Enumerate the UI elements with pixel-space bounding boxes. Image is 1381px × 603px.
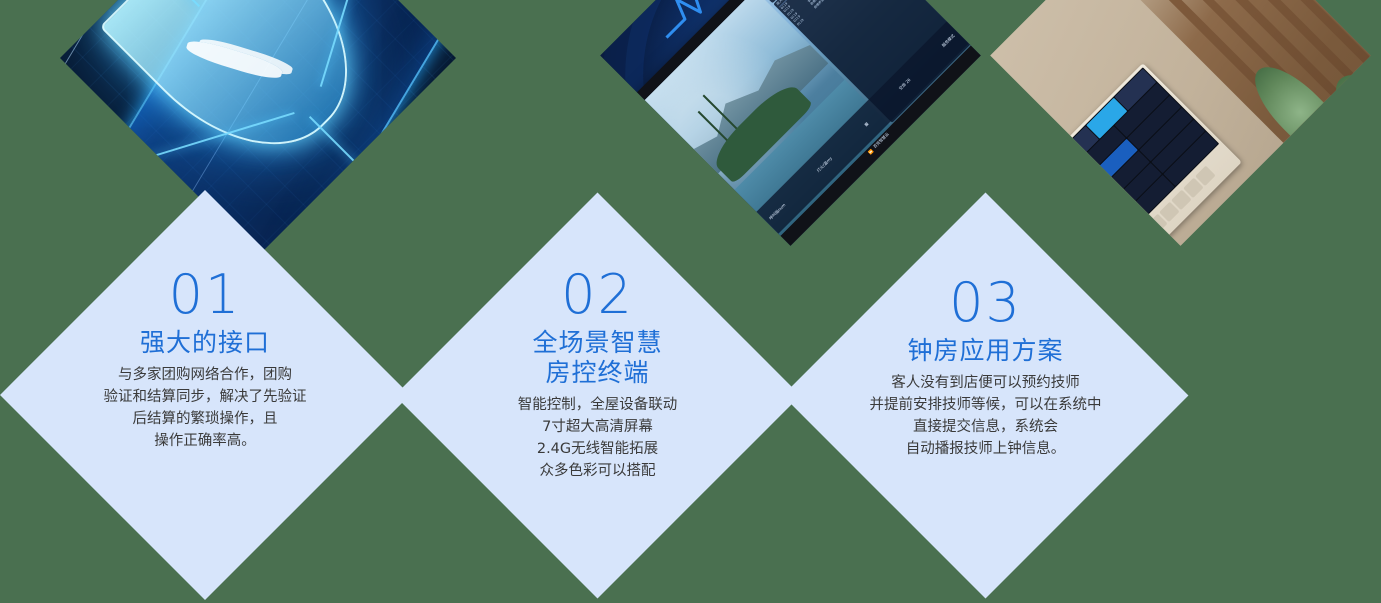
card-image-03 [990, 0, 1370, 246]
table-cell: 会德养生SPA [812, 0, 857, 9]
dock-item: 空房 26 [897, 77, 911, 91]
card-description: 客人没有到店便可以预约技师 并提前安排技师等候，可以在系统中 直接提交信息，系统… [870, 372, 1102, 460]
card-description: 与多家团购网络合作，团购 验证和结算同步，解决了先验证 后结算的繁琐操作，且 操… [104, 364, 307, 452]
card-title: 强大的接口 [140, 328, 270, 358]
card-image-02: CSI280 22:35 [600, 0, 980, 246]
dock-apps-icon: ▦ [862, 120, 868, 126]
card-panel-02: 02 全场景智慧 房控终端 智能控制，全屋设备联动 7寸超大高清屏幕 2.4G无… [395, 193, 801, 599]
dock-item: 灯火/温my [815, 155, 833, 173]
card-image-01 [60, 0, 456, 256]
card-description: 智能控制，全屋设备联动 7寸超大高清屏幕 2.4G无线智能拓展 众多色彩可以搭配 [518, 394, 678, 482]
card-number: 03 [949, 274, 1022, 332]
dock-item: 服务模式 [940, 33, 956, 49]
wall-control-panel-room-image [990, 0, 1370, 246]
card-number: 02 [561, 266, 634, 324]
dock-item: 呼叫指num [768, 202, 787, 221]
circuit-shield-security-image [60, 0, 456, 256]
card-panel-03: 03 钟房应用方案 客人没有到店便可以预约技师 并提前安排技师等候，可以在系统中… [783, 193, 1189, 599]
promo-banner: CSI280 22:35 [0, 0, 1381, 603]
card-number: 01 [169, 266, 242, 324]
card-title: 钟房应用方案 [907, 336, 1063, 366]
card-title: 全场景智慧 房控终端 [532, 328, 662, 388]
smart-room-control-tablet-image: CSI280 22:35 [600, 0, 980, 246]
card-panel-01: 01 强大的接口 与多家团购网络合作，团购 验证和结算同步，解决了先验证 后结算… [0, 190, 410, 600]
